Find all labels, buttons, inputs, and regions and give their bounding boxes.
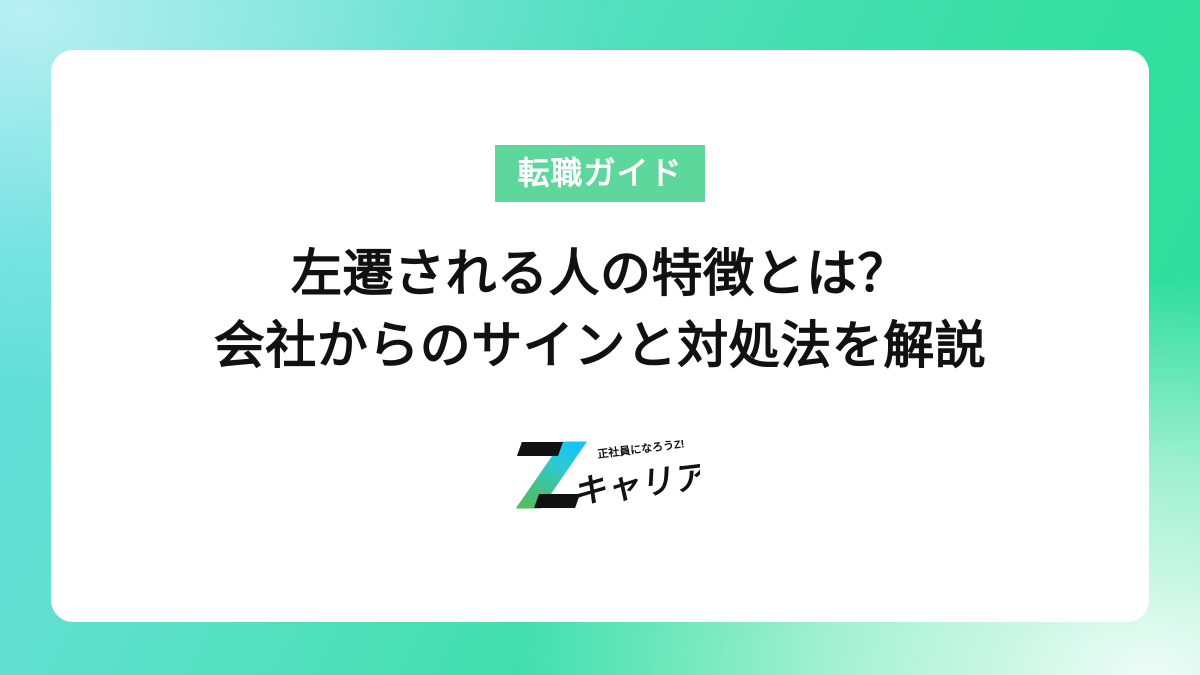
brand-logo-svg: 正社員になろうZ! キャリア [500,428,700,514]
z-mark-top-bar [517,442,563,456]
page-title-line-2: 会社からのサインと対処法を解説 [214,310,987,382]
logo-tagline: 正社員になろうZ! [597,436,685,461]
content-card: 転職ガイド 左遷される人の特徴とは？ 会社からのサインと対処法を解説 [51,50,1149,622]
og-image-canvas: 転職ガイド 左遷される人の特徴とは？ 会社からのサインと対処法を解説 [0,0,1200,675]
page-title-line-1: 左遷される人の特徴とは？ [214,238,987,310]
page-title: 左遷される人の特徴とは？ 会社からのサインと対処法を解説 [214,238,987,383]
z-mark-bottom-bar [534,494,580,508]
brand-logo: 正社員になろうZ! キャリア [500,428,700,514]
category-badge: 転職ガイド [495,145,704,202]
card-inner: 転職ガイド 左遷される人の特徴とは？ 会社からのサインと対処法を解説 [51,50,1149,622]
logo-wordmark: キャリア [575,458,700,512]
